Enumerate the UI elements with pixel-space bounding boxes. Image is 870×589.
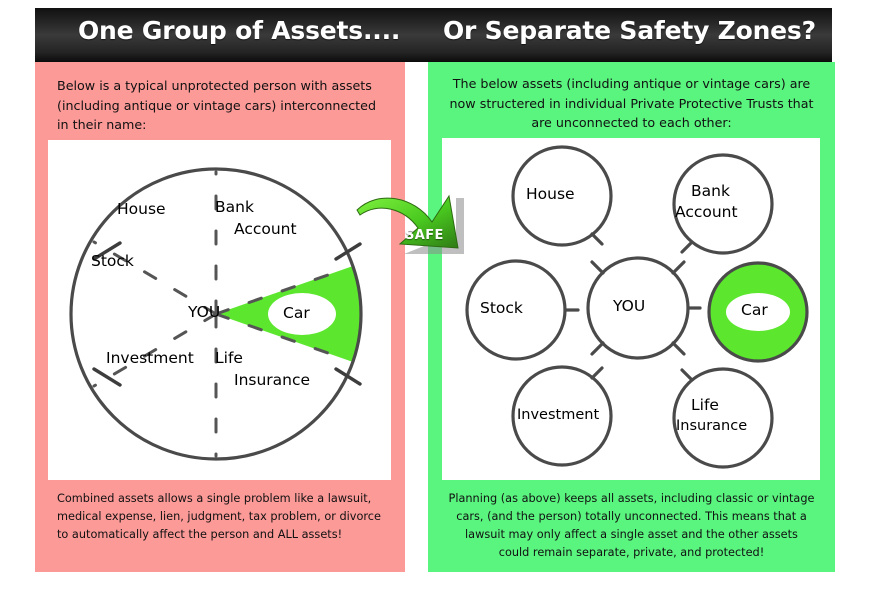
label-house-left: House — [117, 200, 166, 219]
label-life-right-line2: Insurance — [676, 417, 747, 435]
label-life-left-line1: Life — [215, 349, 243, 368]
left-asset-diagram: House Bank Account Stock YOU Car Investm… — [48, 140, 391, 480]
label-car-left[interactable]: Car — [283, 304, 310, 323]
label-bank-left-line1: Bank — [215, 198, 254, 217]
header-title-right: Or Separate Safety Zones? — [443, 16, 816, 45]
label-stock-left: Stock — [91, 252, 134, 271]
right-panel-intro-text: The below assets (including antique or v… — [428, 62, 835, 133]
label-house-right: House — [526, 185, 575, 204]
safe-arrow-graphic — [352, 182, 472, 272]
label-stock-right: Stock — [480, 299, 523, 318]
label-investment-right: Investment — [517, 406, 599, 424]
safe-arrow-label: SAFE — [405, 228, 444, 243]
label-life-right-line1: Life — [691, 396, 719, 415]
label-investment-left: Investment — [106, 349, 194, 368]
label-bank-right-line2: Account — [675, 203, 738, 222]
label-you-left: YOU — [188, 303, 220, 322]
left-panel-intro-text: Below is a typical unprotected person wi… — [35, 62, 405, 135]
label-you-right: YOU — [613, 297, 645, 316]
right-asset-diagram: House Bank Account Stock YOU Car Investm… — [442, 138, 820, 480]
curved-arrow-icon — [352, 182, 472, 272]
right-panel-footer-text: Planning (as above) keeps all assets, in… — [428, 490, 835, 562]
label-life-left-line2: Insurance — [234, 371, 310, 390]
label-bank-right-line1: Bank — [691, 182, 730, 201]
left-panel-footer-text: Combined assets allows a single problem … — [35, 490, 405, 544]
label-bank-left-line2: Account — [234, 220, 297, 239]
header-title-left: One Group of Assets.... — [78, 16, 400, 45]
label-car-right[interactable]: Car — [741, 301, 768, 320]
